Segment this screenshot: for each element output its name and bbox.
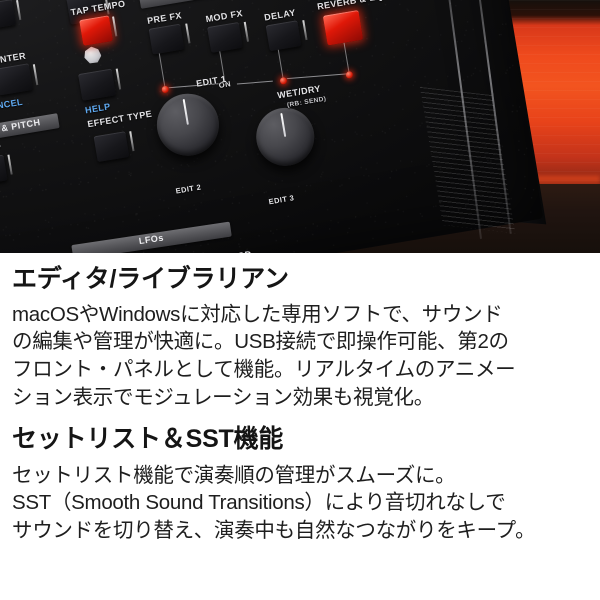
label-edit-2: EDIT 2 <box>175 182 202 195</box>
tick-delay <box>302 20 307 40</box>
tick-pre-fx <box>185 24 190 44</box>
on-link-vert-1 <box>159 53 166 89</box>
on-link-line-b <box>237 81 273 85</box>
knob-edit-3[interactable] <box>252 103 319 170</box>
knob-edit-1[interactable] <box>152 89 223 160</box>
button-mod[interactable] <box>0 0 16 30</box>
label-reverb-and-eq: REVERB & EQ <box>316 0 383 12</box>
button-enter[interactable] <box>0 63 33 95</box>
body-line: の編集や管理が快適に。USB接続で即操作可能、第2の <box>12 328 588 356</box>
copy-area: エディタ/ライブラリアン macOSやWindowsに対応した専用ソフトで、サウ… <box>0 265 600 545</box>
button-tap-tempo-lamp[interactable] <box>79 15 113 46</box>
section-setlist-sst: セットリスト＆SST機能 セットリスト機能で演奏順の管理がスムーズに。 SST（… <box>12 425 588 545</box>
heading-setlist-sst: セットリスト＆SST機能 <box>12 425 588 455</box>
section-editor-librarian: エディタ/ライブラリアン macOSやWindowsに対応した専用ソフトで、サウ… <box>12 265 588 412</box>
body-line: フロント・パネルとして機能。リアルタイムのアニメー <box>12 356 588 384</box>
button-help[interactable] <box>78 69 116 101</box>
button-effect-type[interactable] <box>94 131 130 162</box>
tick-mod <box>16 0 21 20</box>
on-indicator-1 <box>161 85 169 93</box>
label-amp: AMP <box>0 142 2 155</box>
tick-mod-fx <box>244 22 249 42</box>
button-mod-fx[interactable] <box>207 22 243 53</box>
on-link-vert-4 <box>344 43 350 75</box>
body-setlist-sst: セットリスト機能で演奏順の管理がスムーズに。 SST（Smooth Sound … <box>12 462 588 546</box>
body-editor-librarian: macOSやWindowsに対応した専用ソフトで、サウンド の編集や管理が快適に… <box>12 301 588 413</box>
body-line: セットリスト機能で演奏順の管理がスムーズに。 <box>12 462 588 490</box>
section-bar-lfos: LFOs <box>71 222 231 253</box>
tick-effect-type <box>129 131 134 151</box>
section-bar-amp-pitch: AMP & PITCH <box>0 113 60 144</box>
label-edit-3: EDIT 3 <box>268 193 295 206</box>
body-line: ション表示でモジュレーション効果も視覚化。 <box>12 384 588 412</box>
heading-editor-librarian: エディタ/ライブラリアン <box>12 265 588 295</box>
decorative-gem <box>83 45 103 65</box>
knob-edit-3-pointer <box>280 113 286 137</box>
body-line: サウンドを切り替え、演奏中も自然なつながりをキープ。 <box>12 517 588 545</box>
knob-edit-1-pointer <box>182 99 189 125</box>
on-indicator-3 <box>345 71 353 79</box>
synthesizer-chassis: UTILITY MOD WRITE SHIFT ENTER CANCEL HEL… <box>0 0 591 253</box>
tick-help <box>116 69 121 90</box>
button-amp[interactable] <box>0 155 8 186</box>
button-reverb-and-eq[interactable] <box>323 10 363 46</box>
label-osc-1-mod: OSC 1-MOD <box>197 249 253 253</box>
on-link-line-c <box>287 73 349 79</box>
chassis-face: UTILITY MOD WRITE SHIFT ENTER CANCEL HEL… <box>0 0 543 253</box>
label-help: HELP <box>84 101 111 115</box>
body-line: SST（Smooth Sound Transitions）により音切れなしで <box>12 489 588 517</box>
on-link-vert-3 <box>278 50 284 80</box>
tick-enter <box>33 64 38 85</box>
synth-panel-photo: UTILITY MOD WRITE SHIFT ENTER CANCEL HEL… <box>0 0 600 253</box>
section-bar-layer-effects: LAYER EFFECTS <box>139 0 329 9</box>
tick-amp <box>7 155 12 175</box>
button-pre-fx[interactable] <box>149 24 185 55</box>
button-delay[interactable] <box>266 20 302 51</box>
body-line: macOSやWindowsに対応した専用ソフトで、サウンド <box>12 301 588 329</box>
knob-edit-3-skirt <box>258 127 318 178</box>
knob-edit-1-skirt <box>159 114 223 169</box>
on-indicator-2 <box>279 77 287 85</box>
label-cancel: CANCEL <box>0 97 24 113</box>
